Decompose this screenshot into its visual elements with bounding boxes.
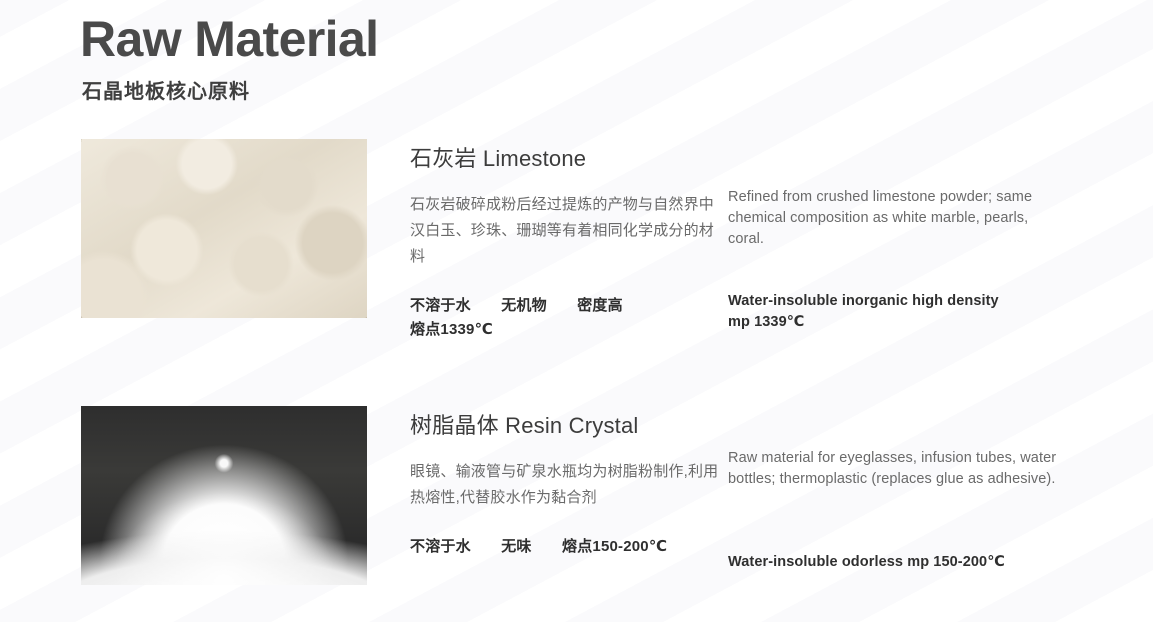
- limestone-english-specs: Water-insoluble inorganic high density m…: [728, 291, 999, 333]
- page-subtitle: 石晶地板核心原料: [82, 75, 378, 104]
- resin-crystal-photo: [81, 406, 367, 585]
- limestone-chinese-column: 石灰岩 Limestone 石灰岩破碎成粉后经过提炼的产物与自然界中汉白玉、珍珠…: [410, 139, 720, 342]
- limestone-chinese-description: 石灰岩破碎成粉后经过提炼的产物与自然界中汉白玉、珍珠、珊瑚等有着相同化学成分的材…: [410, 192, 720, 270]
- resin-chinese-column: 树脂晶体 Resin Crystal 眼镜、输液管与矿泉水瓶均为树脂粉制作,利用…: [410, 406, 720, 559]
- raw-material-page: Raw Material 石晶地板核心原料 石灰岩 Limestone 石灰岩破…: [0, 0, 1153, 622]
- limestone-english-description: Refined from crushed limestone powder; s…: [728, 187, 1058, 250]
- resin-chinese-specs: 不溶于水 无味 熔点150-200℃: [410, 535, 720, 559]
- limestone-photo: [81, 139, 367, 318]
- resin-english-description: Raw material for eyeglasses, infusion tu…: [728, 448, 1058, 490]
- page-header: Raw Material 石晶地板核心原料: [80, 10, 378, 104]
- limestone-title: 石灰岩 Limestone: [410, 141, 720, 173]
- resin-english-specs: Water-insoluble odorless mp 150-200℃: [728, 552, 1005, 573]
- resin-chinese-description: 眼镜、输液管与矿泉水瓶均为树脂粉制作,利用热熔性,代替胶水作为黏合剂: [410, 459, 720, 511]
- page-title: Raw Material: [80, 10, 378, 69]
- resin-crystal-title: 树脂晶体 Resin Crystal: [410, 408, 720, 440]
- limestone-chinese-specs: 不溶于水 无机物 密度高 熔点1339℃: [410, 294, 720, 342]
